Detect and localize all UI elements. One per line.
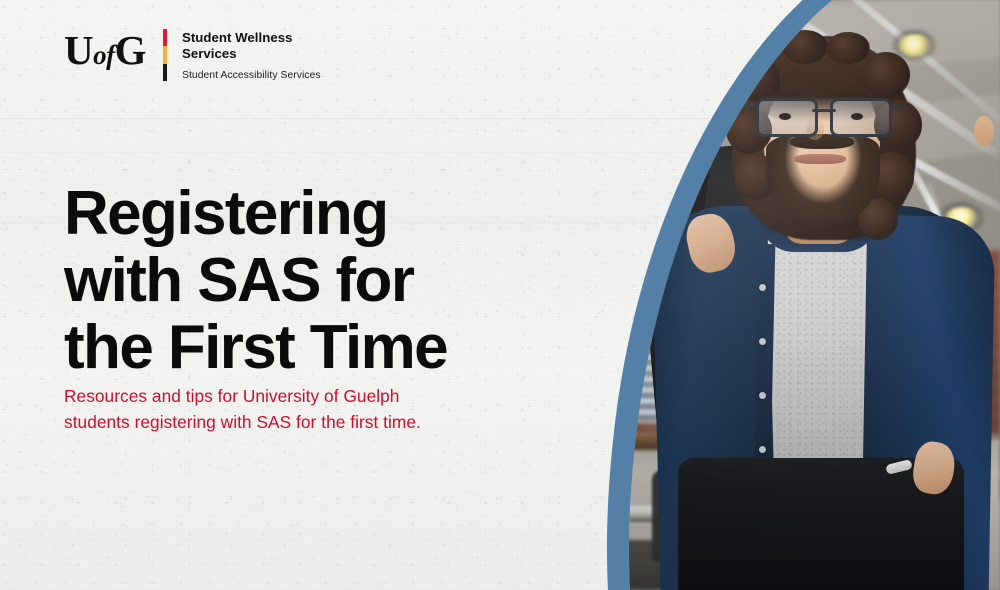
eyeglasses (756, 98, 892, 132)
brand-rule (163, 29, 167, 81)
eye (779, 113, 791, 120)
eyeglass-temple (889, 106, 905, 109)
hero-banner: UofG Student Wellness Services Student A… (0, 0, 1000, 590)
wordmark-of: of (93, 40, 115, 70)
wordmark-u: U (64, 27, 93, 73)
eyeglass-bridge (812, 109, 836, 112)
hair-curl (862, 52, 910, 98)
rule-segment-black (163, 64, 167, 81)
department-name: Student Accessibility Services (182, 70, 321, 82)
eyeglass-lens-right (830, 98, 892, 137)
eyeglass-lens-left (756, 98, 818, 137)
shirt-button (759, 338, 766, 345)
shirt-button (759, 446, 766, 453)
unit-name-line1: Student Wellness (182, 30, 321, 46)
uofg-logo-lockup[interactable]: UofG Student Wellness Services Student A… (64, 28, 321, 82)
rule-segment-gold (163, 46, 167, 63)
shirt-button (759, 392, 766, 399)
hair-curl (826, 32, 870, 64)
unit-name: Student Wellness Services (182, 30, 321, 62)
unit-name-block: Student Wellness Services Student Access… (182, 28, 321, 82)
eye (851, 113, 863, 120)
page-title: Registering with SAS for the First Time (64, 180, 447, 382)
unit-name-line2: Services (182, 46, 321, 62)
title-line-3: the First Time (64, 314, 447, 381)
shirt-button (759, 284, 766, 291)
subtitle-line-3: the first time. (321, 412, 421, 432)
eyeglass-temple (743, 106, 759, 109)
uofg-wordmark: UofG (64, 28, 146, 70)
wordmark-g: G (115, 27, 146, 73)
page-subtitle: Resources and tips for University of Gue… (64, 383, 436, 435)
mouth (794, 154, 846, 164)
subtitle-line-1: Resources and tips for University of (64, 386, 339, 406)
title-line-2: with SAS for (64, 247, 447, 314)
title-line-1: Registering (64, 180, 447, 247)
ear (974, 116, 994, 146)
rule-segment-red (163, 29, 167, 46)
